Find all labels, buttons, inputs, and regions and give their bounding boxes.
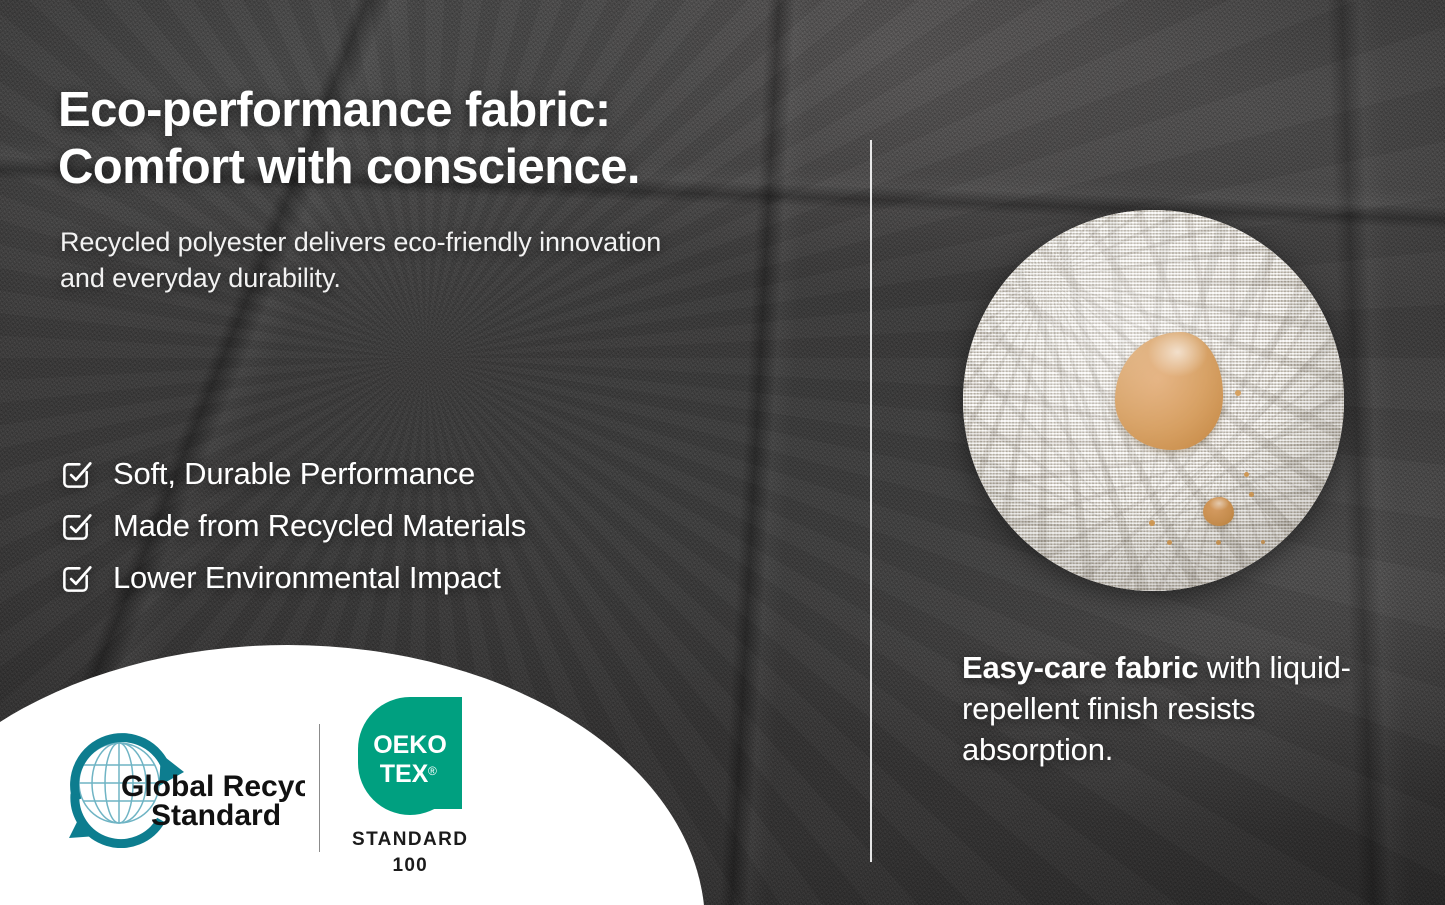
checkbox-check-icon [60,510,93,543]
feature-checklist: Soft, Durable Performance Made from Recy… [60,456,526,596]
oeko-standard-number: 100 [352,853,468,878]
subheadline: Recycled polyester delivers eco-friendly… [60,224,700,296]
vertical-divider [870,140,872,862]
badge-divider [319,724,320,852]
oeko-registered-icon: ® [428,764,437,778]
global-recycled-standard-logo: Global Recycled Standard [55,728,305,848]
checkbox-check-icon [60,458,93,491]
product-feature-banner: Eco-performance fabric: Comfort with con… [0,0,1445,905]
checklist-item: Made from Recycled Materials [60,508,526,544]
checkbox-check-icon [60,562,93,595]
checklist-item: Soft, Durable Performance [60,456,526,492]
certification-badges: Global Recycled Standard OEKO TEX ® STAN… [55,705,515,870]
grs-label-line-2: Standard [151,799,281,832]
inset-caption-bold: Easy-care fabric [962,650,1198,685]
oeko-mark-line-1: OEKO [373,731,447,759]
checklist-item-label: Lower Environmental Impact [113,560,501,596]
oeko-standard-text: STANDARD [352,829,468,850]
oeko-standard-label: STANDARD 100 [352,827,468,878]
oeko-mark-line-2: TEX [380,760,429,788]
inset-caption: Easy-care fabric with liquid-repellent f… [962,648,1392,771]
headline: Eco-performance fabric: Comfort with con… [58,82,878,196]
oeko-tex-badge: OEKO TEX ® STANDARD 100 [352,697,468,878]
oeko-tex-logo: OEKO TEX ® [358,697,462,817]
checklist-item-label: Soft, Durable Performance [113,456,475,492]
fabric-liquid-drop-photo [963,210,1344,591]
checklist-item-label: Made from Recycled Materials [113,508,526,544]
headline-line-2: Comfort with conscience. [58,139,878,196]
checklist-item: Lower Environmental Impact [60,560,526,596]
inset-shading-overlay [963,210,1344,591]
headline-line-1: Eco-performance fabric: [58,83,611,137]
